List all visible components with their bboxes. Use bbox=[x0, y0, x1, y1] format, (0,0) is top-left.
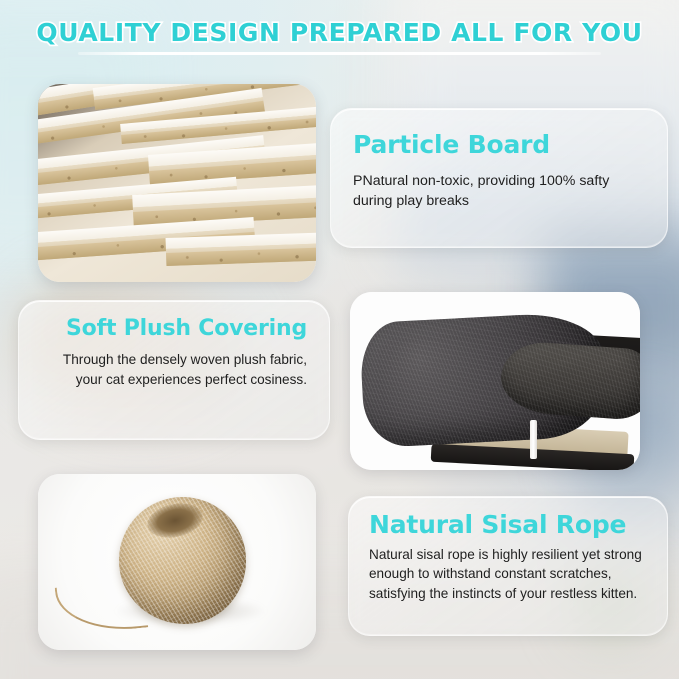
feature-body-natural-sisal-rope: Natural sisal rope is highly resilient y… bbox=[369, 545, 649, 604]
poster-title-area: QUALITY DESIGN PREPARED ALL FOR YOU bbox=[0, 18, 679, 47]
rope-ball bbox=[119, 497, 247, 624]
plush-white-post bbox=[530, 420, 537, 459]
particle-board-photo-content bbox=[38, 84, 316, 282]
board-plank bbox=[165, 231, 316, 266]
feature-card-particle-board: Particle Board PNatural non-toxic, provi… bbox=[330, 108, 668, 248]
product-feature-infographic: QUALITY DESIGN PREPARED ALL FOR YOU Part… bbox=[0, 0, 679, 679]
sisal-rope-photo-content bbox=[38, 474, 316, 650]
feature-heading-particle-board: Particle Board bbox=[353, 131, 647, 159]
title-underline-rule bbox=[78, 52, 601, 55]
plush-fabric-photo-content bbox=[350, 292, 640, 470]
feature-card-soft-plush-covering: Soft Plush Covering Through the densely … bbox=[18, 300, 330, 440]
feature-body-particle-board: PNatural non-toxic, providing 100% safty… bbox=[353, 171, 647, 211]
feature-heading-natural-sisal-rope: Natural Sisal Rope bbox=[369, 511, 649, 539]
feature-body-soft-plush-covering: Through the densely woven plush fabric, … bbox=[39, 350, 307, 390]
feature-heading-soft-plush-covering: Soft Plush Covering bbox=[39, 317, 307, 341]
plush-fabric-photo bbox=[350, 292, 640, 470]
feature-card-natural-sisal-rope: Natural Sisal Rope Natural sisal rope is… bbox=[348, 496, 668, 636]
page-title: QUALITY DESIGN PREPARED ALL FOR YOU bbox=[36, 18, 642, 47]
particle-board-photo bbox=[38, 84, 316, 282]
sisal-rope-photo bbox=[38, 474, 316, 650]
